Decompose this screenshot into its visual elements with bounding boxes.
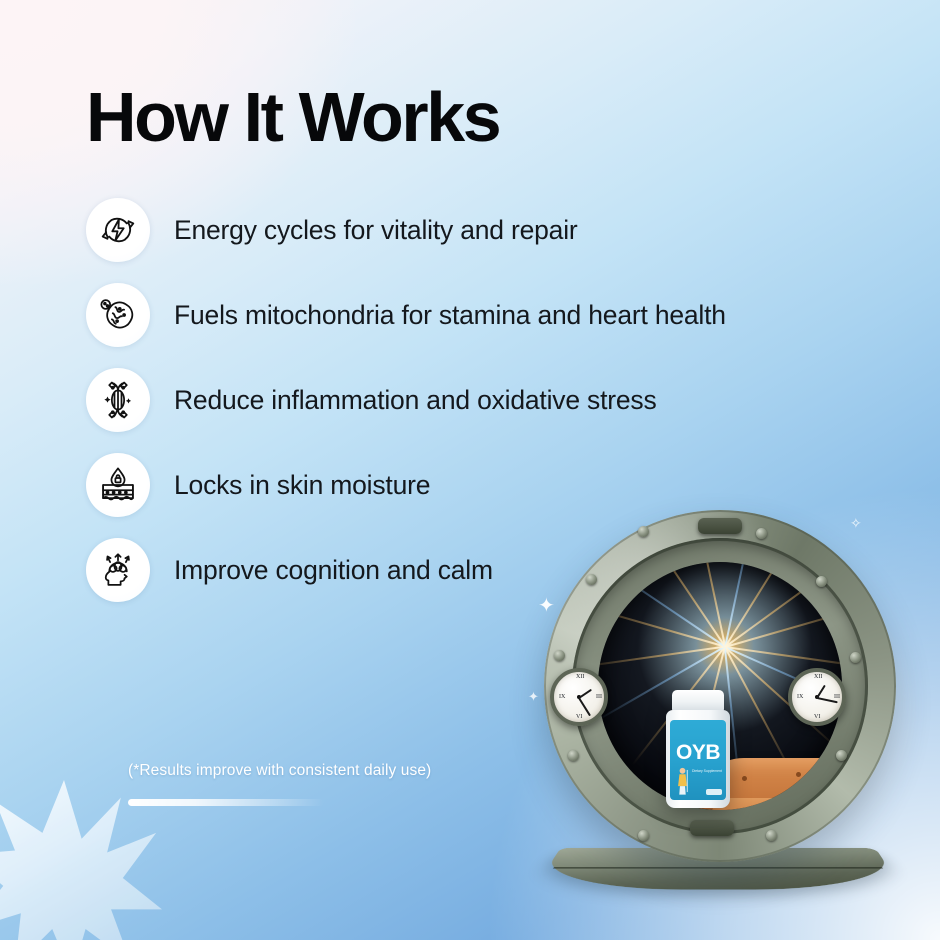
bottom-latch bbox=[690, 820, 734, 836]
rivet bbox=[586, 574, 597, 585]
bottle-badge bbox=[706, 789, 722, 795]
list-item: Energy cycles for vitality and repair bbox=[86, 198, 866, 262]
bottle-sub-text: Dietary Supplement bbox=[692, 768, 722, 774]
top-latch bbox=[698, 518, 742, 534]
roman-clock-left: XII III VI IX bbox=[550, 668, 608, 726]
list-item-label: Locks in skin moisture bbox=[174, 470, 430, 501]
sparkle-icon: ✧ bbox=[850, 516, 862, 530]
sparkle-icon: ✦ bbox=[538, 596, 555, 616]
product-bottle: OYB Dietary Supplement bbox=[666, 690, 730, 808]
roman-clock-right: XII III VI IX bbox=[788, 668, 846, 726]
list-item-label: Fuels mitochondria for stamina and heart… bbox=[174, 300, 726, 331]
rivet bbox=[756, 528, 767, 539]
list-item-label: Improve cognition and calm bbox=[174, 555, 493, 586]
product-scene: XII III VI IX XII III VI IX bbox=[520, 500, 940, 940]
progress-bar bbox=[128, 799, 324, 806]
sparkle-icon: ✦ bbox=[528, 690, 539, 703]
energy-cycle-icon bbox=[86, 198, 150, 262]
list-item-label: Reduce inflammation and oxidative stress bbox=[174, 385, 657, 416]
person-illustration bbox=[674, 766, 691, 796]
rivet bbox=[638, 830, 649, 841]
mitochondria-icon bbox=[86, 283, 150, 347]
brand-wordmark: OYB bbox=[670, 742, 726, 763]
bottle-cap bbox=[672, 690, 724, 712]
rivet bbox=[836, 750, 847, 761]
list-item: Fuels mitochondria for stamina and heart… bbox=[86, 283, 866, 347]
rivet bbox=[766, 830, 777, 841]
rivet bbox=[816, 576, 827, 587]
rivet bbox=[554, 650, 565, 661]
poster-canvas: How It Works Energy cycles for vitality … bbox=[0, 0, 940, 940]
bottle-label: OYB Dietary Supplement bbox=[670, 720, 726, 800]
brain-calm-icon bbox=[86, 538, 150, 602]
rivet bbox=[850, 652, 861, 663]
list-item: Reduce inflammation and oxidative stress bbox=[86, 368, 866, 432]
skin-moisture-lock-icon bbox=[86, 453, 150, 517]
rivet bbox=[638, 526, 649, 537]
rivet bbox=[568, 750, 579, 761]
list-item-label: Energy cycles for vitality and repair bbox=[174, 215, 578, 246]
page-title: How It Works bbox=[86, 82, 499, 152]
antioxidant-cell-icon bbox=[86, 368, 150, 432]
results-footnote: (*Results improve with consistent daily … bbox=[128, 762, 431, 780]
